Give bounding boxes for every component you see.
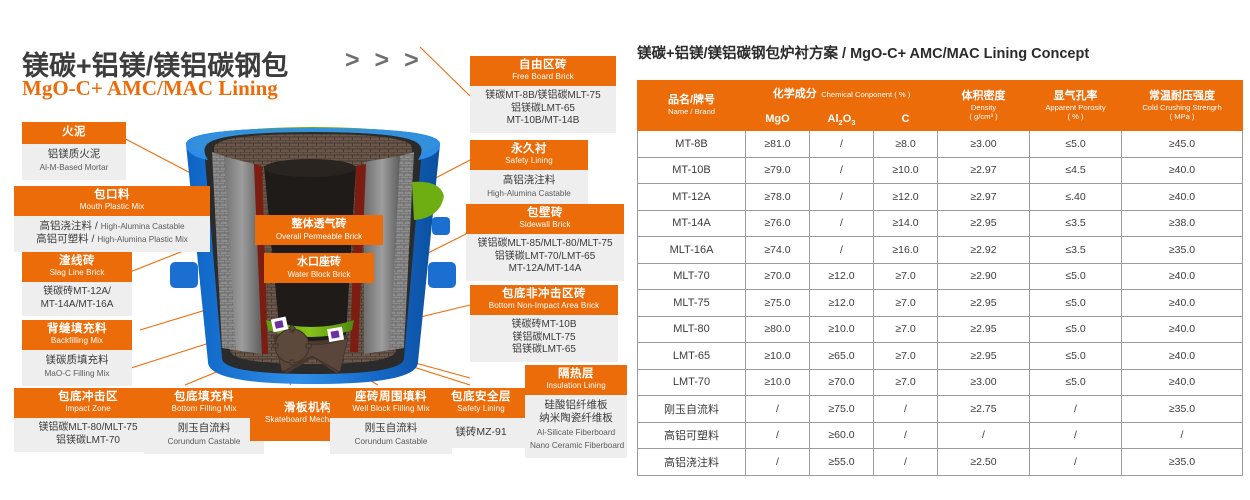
- table-row: MLT-16A≥74.0/≥16.0≥2.92≤3.5≥35.0: [638, 237, 1243, 264]
- callout-impact-zone-body: 镁铝碳MLT-80/MLT-75 铝镁碳LMT-70: [14, 418, 162, 453]
- cell-ccs: ≥38.0: [1122, 210, 1243, 237]
- callout-bottom-filling-line-2: Corundum Castable: [168, 437, 241, 446]
- cell-mgo: ≥76.0: [746, 210, 810, 237]
- table-row: MLT-70≥70.0≥12.0≥7.0≥2.90≤5.0≥40.0: [638, 263, 1243, 290]
- callout-backfilling-line-2: MaO-C Filling Mix: [44, 369, 109, 378]
- callout-bottom-filling-mix[interactable]: 包底填充料 Bottom Filling Mix 刚玉自流料 Corundum …: [144, 388, 264, 454]
- callout-bottom-filling-mix-header: 包底填充料 Bottom Filling Mix: [144, 388, 264, 418]
- callout-bottom-filling-mix-en: Bottom Filling Mix: [150, 405, 258, 414]
- callout-backfilling-mix[interactable]: 背缝填充料 Backfilling Mix 镁碳质填充料 MaO-C Filli…: [22, 320, 132, 386]
- cell-name: 高铝浇注料: [638, 449, 746, 476]
- callout-bottom-filling-mix-cn: 包底填充料: [150, 391, 258, 404]
- table-row: LMT-70≥10.0≥70.0≥7.0≥3.00≤5.0≥40.0: [638, 369, 1243, 396]
- cell-name: MLT-75: [638, 290, 746, 317]
- cell-name: MT-12A: [638, 184, 746, 211]
- th-name-brand-cn: 品名/牌号: [640, 94, 743, 107]
- table-row: LMT-65≥10.0≥65.0≥7.0≥2.95≤5.0≥40.0: [638, 343, 1243, 370]
- cell-porosity: ≤5.0: [1030, 131, 1122, 158]
- cell-name: 高铝可塑料: [638, 422, 746, 449]
- cell-c: /: [874, 422, 938, 449]
- cell-c: ≥16.0: [874, 237, 938, 264]
- cell-porosity: /: [1030, 449, 1122, 476]
- th-carbon: C: [874, 106, 938, 131]
- cell-mgo: ≥78.0: [746, 184, 810, 211]
- callout-bottom-safety-lining-body: 镁砖MZ-91: [432, 418, 530, 448]
- th-chemical-component-en: Chemical Conponent ( % ): [821, 90, 910, 99]
- callout-impact-zone-cn: 包底冲击区: [20, 391, 156, 404]
- callout-permanent-safety-lining-header: 永久衬 Safety Lining: [470, 140, 588, 170]
- callout-mortar-header: 火泥: [22, 122, 126, 144]
- callout-bottom-non-impact-brick[interactable]: 包底非冲击区砖 Bottom Non-Impact Area Brick 镁碳砖…: [470, 285, 618, 362]
- cell-mgo: /: [746, 449, 810, 476]
- cell-density: ≥2.95: [938, 290, 1030, 317]
- cell-ccs: ≥40.0: [1122, 157, 1243, 184]
- table-row: MT-12A≥78.0/≥12.0≥2.97≤.40≥40.0: [638, 184, 1243, 211]
- cell-porosity: ≤3.5: [1030, 210, 1122, 237]
- th-ccs-en: Cold Crushing Strengrh: [1124, 103, 1240, 112]
- cell-al2o3: /: [810, 184, 874, 211]
- th-apparent-porosity-en: Apparent Porosity: [1032, 103, 1119, 112]
- cell-name: MLT-80: [638, 316, 746, 343]
- callout-insulation-lining-cn: 隔热层: [531, 368, 621, 381]
- callout-backfilling-mix-header: 背缝填充料 Backfilling Mix: [22, 320, 132, 350]
- th-ccs-unit: ( MPa ): [1124, 112, 1240, 121]
- th-density-en: Density: [940, 103, 1027, 112]
- cell-al2o3: ≥10.0: [810, 316, 874, 343]
- callout-free-board-brick-header: 自由区砖 Free Board Brick: [470, 56, 616, 86]
- title-arrows-icon: > > >: [345, 46, 423, 75]
- th-al2o3-label: Al2O3: [828, 113, 856, 125]
- callout-free-board-line-2: 铝镁碳LMT-65: [475, 103, 611, 116]
- callout-bottom-non-impact-brick-header: 包底非冲击区砖 Bottom Non-Impact Area Brick: [470, 285, 618, 315]
- callout-mouth-line-2b: High-Alumina Plastic Mix: [97, 235, 188, 244]
- cell-ccs: ≥40.0: [1122, 343, 1243, 370]
- callout-impact-zone-line-2: 铝镁碳LMT-70: [19, 435, 157, 448]
- callout-permanent-line-1: 高铝浇注料: [475, 174, 583, 187]
- table-row: MT-8B≥81.0/≥8.0≥3.00≤5.0≥45.0: [638, 131, 1243, 158]
- cell-density: ≥2.75: [938, 396, 1030, 423]
- th-density: 体积密度 Density ( g/cm³ ): [938, 81, 1030, 131]
- callout-mortar-body: 铝镁质火泥 Al-M-Based Mortar: [22, 144, 126, 180]
- table-header-row-1: 品名/牌号 Name / Brand 化学成分 Chemical Conpone…: [638, 81, 1243, 106]
- cell-porosity: ≤5.0: [1030, 369, 1122, 396]
- spec-table: 品名/牌号 Name / Brand 化学成分 Chemical Conpone…: [637, 80, 1243, 476]
- callout-mouth-line-2a: 高铝可塑料 /: [36, 233, 97, 245]
- callout-insulation-lining[interactable]: 隔热层 Insulation Lining 硅酸铝纤维板 纳米陶瓷纤维板 Al-…: [525, 365, 627, 458]
- cell-mgo: ≥81.0: [746, 131, 810, 158]
- cell-c: /: [874, 449, 938, 476]
- callout-permanent-safety-lining-cn: 永久衬: [476, 143, 582, 156]
- cell-mgo: /: [746, 422, 810, 449]
- callout-well-block-filling-mix-en: Well Block Filling Mix: [336, 405, 446, 414]
- callout-free-board-brick-body: 镁碳MT-8B/镁铝碳MLT-75 铝镁碳LMT-65 MT-10B/MT-14…: [470, 86, 616, 133]
- callout-slag-line-2: MT-14A/MT-16A: [27, 299, 127, 312]
- diagram-label-permeable-brick-en: Overall Permeable Brick: [262, 232, 376, 241]
- cell-mgo: ≥10.0: [746, 343, 810, 370]
- callout-mortar-line-1: 铝镁质火泥: [27, 148, 121, 161]
- callout-backfilling-mix-body: 镁碳质填充料 MaO-C Filling Mix: [22, 350, 132, 386]
- callout-free-board-line-1: 镁碳MT-8B/镁铝碳MLT-75: [475, 90, 611, 103]
- th-al2o3: Al2O3: [810, 106, 874, 131]
- cell-c: ≥7.0: [874, 369, 938, 396]
- callout-bottom-filling-line-1: 刚玉自流料: [149, 422, 259, 435]
- table-row: MT-10B≥79.0/≥10.0≥2.97≤4.5≥40.0: [638, 157, 1243, 184]
- callout-impact-zone-line-1: 镁铝碳MLT-80/MLT-75: [19, 422, 157, 435]
- callout-sidewall-brick-en: Sidewall Brick: [472, 221, 618, 230]
- callout-insulation-line-4: Nano Ceramic Fiberboard: [530, 441, 624, 450]
- callout-slag-line-brick-en: Slag Line Brick: [28, 269, 126, 278]
- diagram-label-permeable-brick-cn: 整体透气砖: [262, 218, 376, 231]
- callout-free-board-line-3: MT-10B/MT-14B: [475, 115, 611, 128]
- th-carbon-label: C: [902, 113, 910, 125]
- callout-insulation-line-3: Al-Silicate Fiberboard: [537, 428, 615, 437]
- callout-sidewall-brick-header: 包壁砖 Sidewall Brick: [466, 204, 624, 234]
- cell-al2o3: ≥65.0: [810, 343, 874, 370]
- cell-al2o3: ≥12.0: [810, 263, 874, 290]
- callout-insulation-lining-header: 隔热层 Insulation Lining: [525, 365, 627, 395]
- cell-al2o3: /: [810, 157, 874, 184]
- cell-porosity: ≤.40: [1030, 184, 1122, 211]
- cell-density: ≥2.95: [938, 343, 1030, 370]
- cell-name: MLT-16A: [638, 237, 746, 264]
- cell-name: MT-8B: [638, 131, 746, 158]
- cell-ccs: ≥40.0: [1122, 263, 1243, 290]
- cell-al2o3: ≥12.0: [810, 290, 874, 317]
- cell-ccs: ≥35.0: [1122, 396, 1243, 423]
- callout-permanent-safety-lining[interactable]: 永久衬 Safety Lining 高铝浇注料 High-Alumina Cas…: [470, 140, 588, 206]
- cell-density: ≥2.97: [938, 157, 1030, 184]
- callout-mortar[interactable]: 火泥 铝镁质火泥 Al-M-Based Mortar: [22, 122, 126, 180]
- callout-sidewall-brick-cn: 包壁砖: [472, 207, 618, 220]
- th-apparent-porosity: 显气孔率 Apparent Porosity ( % ): [1030, 81, 1122, 131]
- cell-porosity: ≤5.0: [1030, 316, 1122, 343]
- callout-insulation-line-1: 硅酸铝纤维板: [530, 399, 622, 412]
- cell-name: LMT-65: [638, 343, 746, 370]
- diagram-label-water-block-brick: 水口座砖 Water Block Brick: [264, 253, 374, 283]
- th-apparent-porosity-unit: ( % ): [1032, 112, 1119, 121]
- callout-mouth-line-1b: High-Alumina Castable: [101, 222, 185, 231]
- callout-bottom-non-impact-brick-body: 镁碳砖MT-10B 镁铝碳MLT-75 铝镁碳LMT-65: [470, 315, 618, 362]
- callout-impact-zone-header: 包底冲击区 Impact Zone: [14, 388, 162, 418]
- cell-porosity: ≤5.0: [1030, 343, 1122, 370]
- cell-density: ≥2.95: [938, 316, 1030, 343]
- cell-ccs: ≥35.0: [1122, 449, 1243, 476]
- callout-bottom-non-impact-brick-cn: 包底非冲击区砖: [476, 288, 612, 301]
- cell-mgo: ≥75.0: [746, 290, 810, 317]
- cell-mgo: ≥70.0: [746, 263, 810, 290]
- callout-insulation-lining-en: Insulation Lining: [531, 382, 621, 391]
- callout-well-block-line-2: Corundum Castable: [355, 437, 428, 446]
- page-root: 镁碳+铝镁/镁铝碳钢包 > > > MgO-C+ AMC/MAC Lining: [0, 0, 1250, 500]
- cell-density: ≥2.90: [938, 263, 1030, 290]
- cell-al2o3: /: [810, 131, 874, 158]
- callout-permanent-line-2: High-Alumina Castable: [487, 189, 571, 198]
- callout-sidewall-line-2: 铝镁碳LMT-70/LMT-65: [471, 251, 619, 264]
- cell-porosity: ≤5.0: [1030, 263, 1122, 290]
- lining-diagram-panel: 镁碳+铝镁/镁铝碳钢包 > > > MgO-C+ AMC/MAC Lining: [0, 0, 630, 500]
- cell-al2o3: ≥60.0: [810, 422, 874, 449]
- cell-density: ≥2.50: [938, 449, 1030, 476]
- callout-backfilling-line-1: 镁碳质填充料: [27, 354, 127, 367]
- cell-al2o3: /: [810, 237, 874, 264]
- cell-name: MLT-70: [638, 263, 746, 290]
- cell-density: ≥2.95: [938, 210, 1030, 237]
- spec-table-panel: 镁碳+铝镁/镁铝碳钢包炉衬方案 / MgO-C+ AMC/MAC Lining …: [630, 0, 1250, 500]
- callout-free-board-brick-cn: 自由区砖: [476, 59, 610, 72]
- cell-c: ≥7.0: [874, 263, 938, 290]
- callout-sidewall-line-3: MT-12A/MT-14A: [471, 263, 619, 276]
- cell-name: 刚玉自流料: [638, 396, 746, 423]
- callout-mouth-plastic-mix-cn: 包口料: [20, 189, 204, 202]
- spec-table-title: 镁碳+铝镁/镁铝碳钢包炉衬方案 / MgO-C+ AMC/MAC Lining …: [637, 42, 1089, 63]
- table-row: MT-14A≥76.0/≥14.0≥2.95≤3.5≥38.0: [638, 210, 1243, 237]
- cell-mgo: ≥80.0: [746, 316, 810, 343]
- cell-c: ≥14.0: [874, 210, 938, 237]
- cell-c: ≥7.0: [874, 316, 938, 343]
- callout-bottom-non-impact-brick-en: Bottom Non-Impact Area Brick: [476, 302, 612, 311]
- th-ccs-cn: 常温耐压强度: [1124, 90, 1240, 103]
- callout-bottom-safety-line-1: 镁砖MZ-91: [437, 426, 525, 439]
- th-mgo: MgO: [746, 106, 810, 131]
- diagram-label-water-block-brick-en: Water Block Brick: [271, 270, 367, 279]
- th-name-brand-en: Name / Brand: [640, 107, 743, 116]
- callout-well-block-filling-mix-cn: 座砖周围填料: [336, 391, 446, 404]
- th-density-unit: ( g/cm³ ): [940, 112, 1027, 121]
- table-row: MLT-80≥80.0≥10.0≥7.0≥2.95≤5.0≥40.0: [638, 316, 1243, 343]
- callout-slag-line-brick-body: 镁碳砖MT-12A/ MT-14A/MT-16A: [22, 282, 132, 317]
- cell-mgo: /: [746, 396, 810, 423]
- cell-mgo: ≥10.0: [746, 369, 810, 396]
- cell-density: ≥3.00: [938, 369, 1030, 396]
- cell-porosity: ≤5.0: [1030, 290, 1122, 317]
- callout-impact-zone[interactable]: 包底冲击区 Impact Zone 镁铝碳MLT-80/MLT-75 铝镁碳LM…: [14, 388, 162, 452]
- callout-non-impact-line-2: 镁铝碳MLT-75: [475, 332, 613, 345]
- cell-ccs: ≥40.0: [1122, 184, 1243, 211]
- callout-insulation-line-2: 纳米陶瓷纤维板: [530, 412, 622, 425]
- callout-backfilling-mix-en: Backfilling Mix: [28, 337, 126, 346]
- cell-ccs: ≥40.0: [1122, 316, 1243, 343]
- cell-c: ≥7.0: [874, 343, 938, 370]
- diagram-label-water-block-brick-cn: 水口座砖: [271, 256, 367, 269]
- cell-name: MT-10B: [638, 157, 746, 184]
- cell-al2o3: ≥70.0: [810, 369, 874, 396]
- spec-table-body: MT-8B≥81.0/≥8.0≥3.00≤5.0≥45.0MT-10B≥79.0…: [638, 131, 1243, 476]
- callout-bottom-safety-lining-header: 包底安全层 Safety Lining: [432, 388, 530, 418]
- cell-c: ≥8.0: [874, 131, 938, 158]
- callout-bottom-filling-mix-body: 刚玉自流料 Corundum Castable: [144, 418, 264, 454]
- callout-bottom-safety-lining-cn: 包底安全层: [438, 391, 524, 404]
- callout-permanent-safety-lining-body: 高铝浇注料 High-Alumina Castable: [470, 170, 588, 206]
- page-title-en: MgO-C+ AMC/MAC Lining: [22, 76, 278, 101]
- callout-impact-zone-en: Impact Zone: [20, 405, 156, 414]
- cell-ccs: ≥45.0: [1122, 131, 1243, 158]
- callout-slag-line-brick[interactable]: 渣线砖 Slag Line Brick 镁碳砖MT-12A/ MT-14A/MT…: [22, 252, 132, 316]
- callout-mouth-plastic-mix-body: 高铝浇注料 / High-Alumina Castable 高铝可塑料 / Hi…: [14, 216, 210, 252]
- cell-density: /: [938, 422, 1030, 449]
- table-row: MLT-75≥75.0≥12.0≥7.0≥2.95≤5.0≥40.0: [638, 290, 1243, 317]
- callout-non-impact-line-1: 镁碳砖MT-10B: [475, 319, 613, 332]
- cell-ccs: ≥40.0: [1122, 369, 1243, 396]
- cell-c: /: [874, 396, 938, 423]
- callout-mouth-plastic-mix[interactable]: 包口料 Mouth Plastic Mix 高铝浇注料 / High-Alumi…: [14, 186, 210, 252]
- cell-al2o3: ≥55.0: [810, 449, 874, 476]
- cell-ccs: ≥40.0: [1122, 290, 1243, 317]
- callout-sidewall-brick[interactable]: 包壁砖 Sidewall Brick 镁铝碳MLT-85/MLT-80/MLT-…: [466, 204, 624, 281]
- callout-backfilling-mix-cn: 背缝填充料: [28, 323, 126, 336]
- callout-mortar-line-2: Al-M-Based Mortar: [40, 163, 109, 172]
- th-chemical-component: 化学成分 Chemical Conponent ( % ): [746, 81, 938, 106]
- table-row: 刚玉自流料/≥75.0/≥2.75/≥35.0: [638, 396, 1243, 423]
- callout-sidewall-brick-body: 镁铝碳MLT-85/MLT-80/MLT-75 铝镁碳LMT-70/LMT-65…: [466, 234, 624, 281]
- cell-density: ≥2.97: [938, 184, 1030, 211]
- table-row: 高铝浇注料/≥55.0/≥2.50/≥35.0: [638, 449, 1243, 476]
- callout-non-impact-line-3: 铝镁碳LMT-65: [475, 344, 613, 357]
- cell-name: LMT-70: [638, 369, 746, 396]
- th-mgo-label: MgO: [765, 113, 789, 125]
- th-cold-crushing-strength: 常温耐压强度 Cold Crushing Strengrh ( MPa ): [1122, 81, 1243, 131]
- callout-slag-line-1: 镁碳砖MT-12A/: [27, 286, 127, 299]
- cell-porosity: /: [1030, 422, 1122, 449]
- cell-porosity: ≤3.5: [1030, 237, 1122, 264]
- th-density-cn: 体积密度: [940, 90, 1027, 103]
- cell-density: ≥3.00: [938, 131, 1030, 158]
- cell-al2o3: /: [810, 210, 874, 237]
- callout-free-board-brick-en: Free Board Brick: [476, 73, 610, 82]
- cell-c: ≥12.0: [874, 184, 938, 211]
- cell-c: ≥10.0: [874, 157, 938, 184]
- callout-bottom-safety-lining-en: Safety Lining: [438, 405, 524, 414]
- callout-bottom-safety-lining[interactable]: 包底安全层 Safety Lining 镁砖MZ-91: [432, 388, 530, 448]
- cell-ccs: ≥35.0: [1122, 237, 1243, 264]
- callout-slag-line-brick-header: 渣线砖 Slag Line Brick: [22, 252, 132, 282]
- cell-al2o3: ≥75.0: [810, 396, 874, 423]
- cell-name: MT-14A: [638, 210, 746, 237]
- cell-mgo: ≥79.0: [746, 157, 810, 184]
- cell-porosity: /: [1030, 396, 1122, 423]
- callout-slag-line-brick-cn: 渣线砖: [28, 255, 126, 268]
- callout-sidewall-line-1: 镁铝碳MLT-85/MLT-80/MLT-75: [471, 238, 619, 251]
- cell-ccs: /: [1122, 422, 1243, 449]
- cell-porosity: ≤4.5: [1030, 157, 1122, 184]
- table-row: 高铝可塑料/≥60.0////: [638, 422, 1243, 449]
- callout-well-block-line-1: 刚玉自流料: [335, 422, 447, 435]
- cell-c: ≥7.0: [874, 290, 938, 317]
- callout-permanent-safety-lining-en: Safety Lining: [476, 157, 582, 166]
- cell-mgo: ≥74.0: [746, 237, 810, 264]
- th-name-brand: 品名/牌号 Name / Brand: [638, 81, 746, 131]
- th-apparent-porosity-cn: 显气孔率: [1032, 90, 1119, 103]
- cell-density: ≥2.92: [938, 237, 1030, 264]
- callout-mouth-line-1a: 高铝浇注料 /: [40, 220, 101, 232]
- callout-free-board-brick[interactable]: 自由区砖 Free Board Brick 镁碳MT-8B/镁铝碳MLT-75 …: [470, 56, 616, 133]
- diagram-label-permeable-brick: 整体透气砖 Overall Permeable Brick: [255, 215, 383, 245]
- callout-mouth-plastic-mix-en: Mouth Plastic Mix: [20, 203, 204, 212]
- th-chemical-component-cn: 化学成分: [773, 88, 817, 100]
- callout-mortar-cn: 火泥: [28, 126, 120, 139]
- callout-mouth-plastic-mix-header: 包口料 Mouth Plastic Mix: [14, 186, 210, 216]
- callout-insulation-lining-body: 硅酸铝纤维板 纳米陶瓷纤维板 Al-Silicate Fiberboard Na…: [525, 395, 627, 458]
